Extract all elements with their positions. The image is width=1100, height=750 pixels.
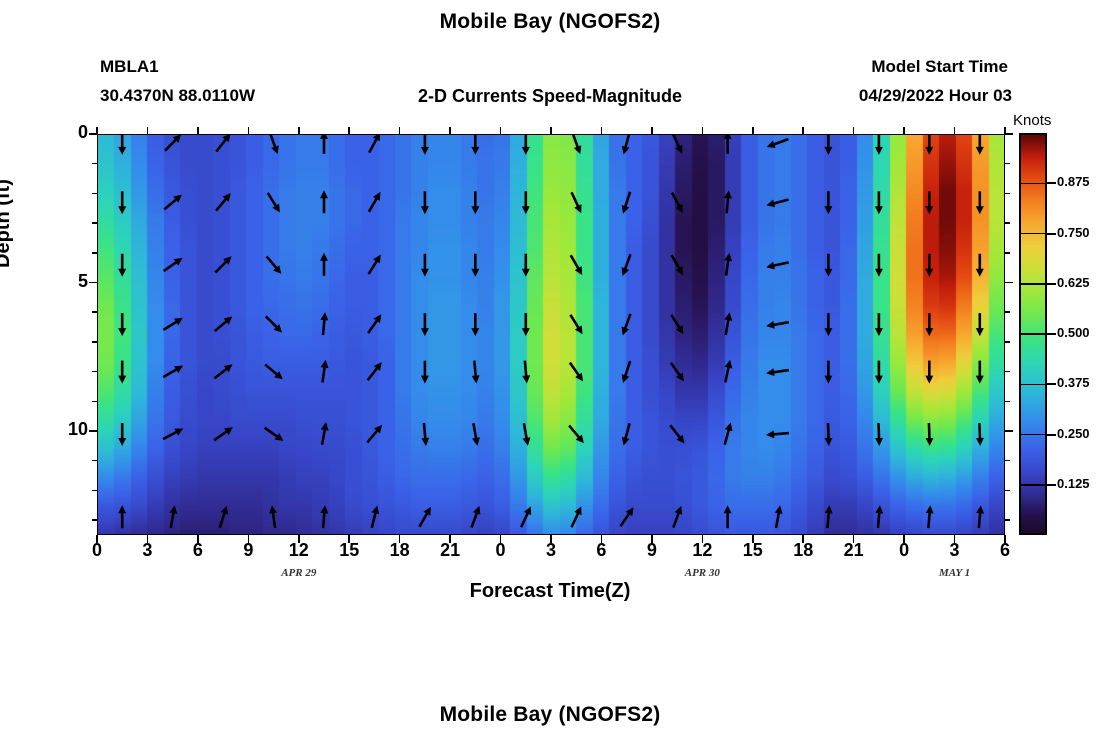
y-axis-tick-label: 0 (44, 122, 88, 143)
colorbar-segment-line (1019, 333, 1047, 335)
colorbar-segment-line (1019, 434, 1047, 436)
model-start-value: 04/29/2022 Hour 03 (859, 86, 1012, 106)
x-axis-top-tick (399, 127, 401, 134)
x-axis-top-tick (802, 127, 804, 134)
colorbar-segment-line (1019, 183, 1047, 185)
x-axis-tick-label: 6 (985, 540, 1025, 561)
y-axis-tick (89, 133, 97, 135)
plot-frame (97, 134, 1005, 535)
colorbar-tick-label: 0.250 (1057, 426, 1090, 441)
x-axis-top-tick (954, 127, 956, 134)
y-axis-tick (89, 282, 97, 284)
y-axis-right-tick (1005, 430, 1013, 432)
colorbar-tick-label: 0.500 (1057, 325, 1090, 340)
x-axis-tick-label: 21 (430, 540, 470, 561)
colorbar-segment-line (1019, 484, 1047, 486)
y-axis-minor-tick (92, 252, 97, 254)
colorbar-segment-line (1019, 283, 1047, 285)
y-axis-right-tick (1005, 133, 1013, 135)
x-axis-tick-label: 6 (581, 540, 621, 561)
y-axis-tick-label: 10 (44, 419, 88, 440)
x-axis-day-label: APR 29 (254, 567, 344, 579)
y-axis-right-minor-tick (1005, 193, 1010, 195)
x-axis-day-label: APR 30 (657, 567, 747, 579)
colorbar-tick (1047, 383, 1056, 385)
colorbar-tick (1047, 434, 1056, 436)
colorbar-segment-line (1019, 233, 1047, 235)
colorbar-tick-label: 0.750 (1057, 225, 1090, 240)
colorbar-tick-label: 0.375 (1057, 375, 1090, 390)
x-axis-tick-label: 0 (77, 540, 117, 561)
colorbar-tick (1047, 333, 1056, 335)
colorbar-tick-label: 0.125 (1057, 476, 1090, 491)
y-axis-right-minor-tick (1005, 222, 1010, 224)
x-axis-tick-label: 0 (481, 540, 521, 561)
x-axis-tick-label: 15 (733, 540, 773, 561)
x-axis-tick-label: 15 (329, 540, 369, 561)
y-axis-right-minor-tick (1005, 371, 1010, 373)
x-axis-top-tick (853, 127, 855, 134)
colorbar-title: Knots (1013, 112, 1051, 129)
x-axis-tick-label: 21 (834, 540, 874, 561)
y-axis-minor-tick (92, 222, 97, 224)
x-axis-title: Forecast Time(Z) (0, 580, 1100, 603)
station-id: MBLA1 (100, 57, 159, 77)
colorbar-tick (1047, 484, 1056, 486)
y-axis-tick-label: 5 (44, 271, 88, 292)
y-axis-right-tick (1005, 282, 1013, 284)
chart-page: Mobile Bay (NGOFS2) MBLA1 30.4370N 88.01… (0, 0, 1100, 750)
x-axis-tick-label: 3 (935, 540, 975, 561)
x-axis-tick-label: 18 (380, 540, 420, 561)
x-axis-tick-label: 12 (279, 540, 319, 561)
x-axis-top-tick (348, 127, 350, 134)
y-axis-minor-tick (92, 311, 97, 313)
colorbar-tick (1047, 233, 1056, 235)
x-axis-tick-label: 0 (884, 540, 924, 561)
y-axis-tick (89, 430, 97, 432)
colorbar-tick (1047, 182, 1056, 184)
y-axis-minor-tick (92, 460, 97, 462)
x-axis-tick-label: 3 (127, 540, 167, 561)
x-axis-tick-label: 3 (531, 540, 571, 561)
y-axis-minor-tick (92, 519, 97, 521)
x-axis-tick-label: 9 (632, 540, 672, 561)
model-start-label: Model Start Time (871, 57, 1008, 77)
y-axis-minor-tick (92, 401, 97, 403)
y-axis-minor-tick (92, 490, 97, 492)
x-axis-top-tick (903, 127, 905, 134)
x-axis-top-tick (248, 127, 250, 134)
x-axis-top-tick (197, 127, 199, 134)
y-axis-right-minor-tick (1005, 401, 1010, 403)
colorbar-tick-label: 0.875 (1057, 174, 1090, 189)
colorbar-tick (1047, 283, 1056, 285)
y-axis-right-minor-tick (1005, 519, 1010, 521)
plot-area (97, 134, 1005, 535)
x-axis-top-tick (500, 127, 502, 134)
x-axis-tick-label: 6 (178, 540, 218, 561)
x-axis-top-tick (298, 127, 300, 134)
y-axis-minor-tick (92, 371, 97, 373)
y-axis-right-minor-tick (1005, 460, 1010, 462)
y-axis-minor-tick (92, 341, 97, 343)
x-axis-tick-label: 18 (783, 540, 823, 561)
x-axis-top-tick (651, 127, 653, 134)
y-axis-right-minor-tick (1005, 311, 1010, 313)
y-axis-right-minor-tick (1005, 490, 1010, 492)
y-axis-minor-tick (92, 163, 97, 165)
x-axis-top-tick (147, 127, 149, 134)
page-title: Mobile Bay (NGOFS2) (0, 10, 1100, 34)
y-axis-right-minor-tick (1005, 163, 1010, 165)
x-axis-tick-label: 12 (682, 540, 722, 561)
x-axis-top-tick (752, 127, 754, 134)
y-axis-title: Depth (ft) (0, 179, 15, 268)
x-axis-day-label: MAY 1 (910, 567, 1000, 579)
x-axis-top-tick (702, 127, 704, 134)
x-axis-tick-label: 9 (228, 540, 268, 561)
colorbar-segment-line (1019, 384, 1047, 386)
x-axis-top-tick (550, 127, 552, 134)
x-axis-top-tick (449, 127, 451, 134)
colorbar-tick-label: 0.625 (1057, 275, 1090, 290)
footer-title: Mobile Bay (NGOFS2) (0, 703, 1100, 727)
x-axis-top-tick (601, 127, 603, 134)
y-axis-minor-tick (92, 193, 97, 195)
y-axis-right-minor-tick (1005, 252, 1010, 254)
y-axis-right-minor-tick (1005, 341, 1010, 343)
